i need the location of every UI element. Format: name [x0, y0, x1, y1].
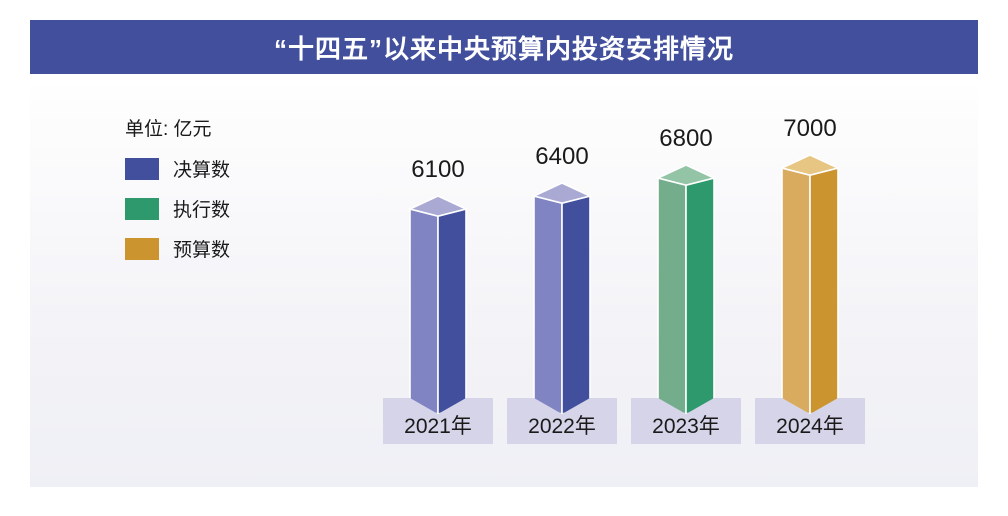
category-label: 2024年 — [755, 398, 865, 444]
bar-value-label: 6800 — [631, 125, 741, 153]
bar-3d[interactable] — [755, 153, 865, 431]
bar-group[interactable]: 64002022年 — [507, 86, 617, 487]
bar-value-label: 6400 — [507, 143, 617, 171]
category-label-box[interactable]: 2022年 — [507, 398, 617, 444]
category-label-box[interactable]: 2024年 — [755, 398, 865, 444]
bar-group[interactable]: 68002023年 — [631, 86, 741, 487]
bar-group[interactable]: 61002021年 — [383, 86, 493, 487]
bar-3d[interactable] — [507, 181, 617, 431]
chart-page: “十四五”以来中央预算内投资安排情况 单位: 亿元 决算数执行数预算数 6100… — [0, 0, 1008, 516]
bar-3d[interactable] — [383, 194, 493, 431]
bar-3d[interactable] — [631, 163, 741, 431]
bar-plot-area: 61002021年64002022年68002023年70002024年 — [30, 86, 978, 487]
category-label: 2022年 — [507, 398, 617, 444]
chart-header: “十四五”以来中央预算内投资安排情况 — [30, 20, 978, 74]
bar-value-label: 7000 — [755, 115, 865, 143]
category-label-box[interactable]: 2023年 — [631, 398, 741, 444]
category-label: 2021年 — [383, 398, 493, 444]
category-label: 2023年 — [631, 398, 741, 444]
page-title: “十四五”以来中央预算内投资安排情况 — [274, 29, 734, 66]
bar-value-label: 6100 — [383, 156, 493, 184]
chart-body: 单位: 亿元 决算数执行数预算数 61002021年64002022年68002… — [30, 86, 978, 487]
bar-group[interactable]: 70002024年 — [755, 86, 865, 487]
category-label-box[interactable]: 2021年 — [383, 398, 493, 444]
